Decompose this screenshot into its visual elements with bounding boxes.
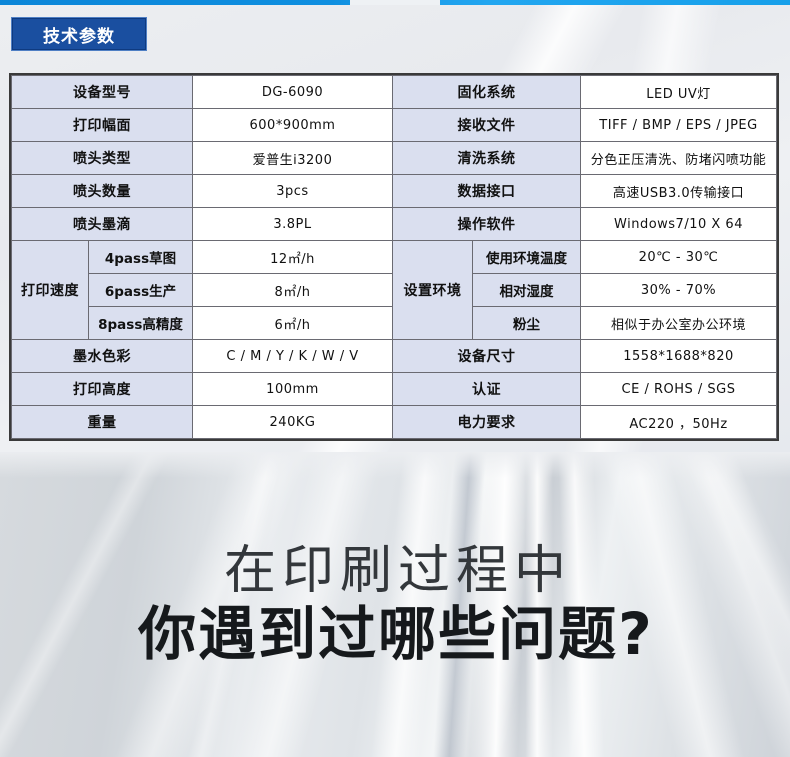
spec-value: 20℃ - 30℃ [581, 241, 777, 274]
spec-key: 打印幅面 [12, 109, 193, 142]
table-row: 重量 240KG 电力要求 AC220 ，50Hz [12, 406, 777, 439]
hero-text-block: 在印刷过程中 你遇到过哪些问题? [0, 452, 790, 757]
table-row: 打印速度 4pass草图 12㎡/h 设置环境 使用环境温度 20℃ - 30℃ [12, 241, 777, 274]
table-row: 喷头数量 3pcs 数据接口 高速USB3.0传输接口 [12, 175, 777, 208]
hero-banner: 在印刷过程中 你遇到过哪些问题? [0, 452, 790, 757]
spec-key: 操作软件 [393, 208, 581, 241]
table-row: 喷头墨滴 3.8PL 操作软件 Windows7/10 X 64 [12, 208, 777, 241]
spec-value: 8㎡/h [193, 274, 393, 307]
spec-value: C / M / Y / K / W / V [193, 340, 393, 373]
spec-value: Windows7/10 X 64 [581, 208, 777, 241]
spec-value: 12㎡/h [193, 241, 393, 274]
spec-key: 电力要求 [393, 406, 581, 439]
spec-value: 30% - 70% [581, 274, 777, 307]
hero-headline-secondary: 你遇到过哪些问题? [136, 604, 654, 665]
spec-value: 100mm [193, 373, 393, 406]
table-row: 打印高度 100mm 认证 CE / ROHS / SGS [12, 373, 777, 406]
spec-subkey: 6pass生产 [89, 274, 193, 307]
spec-key: 设备尺寸 [393, 340, 581, 373]
spec-value: 6㎡/h [193, 307, 393, 340]
section-title-badge: 技术参数 [11, 17, 147, 51]
spec-subkey: 8pass高精度 [89, 307, 193, 340]
spec-value: 爱普生i3200 [193, 142, 393, 175]
spec-subkey: 粉尘 [473, 307, 581, 340]
spec-value: 3.8PL [193, 208, 393, 241]
spec-value: 相似于办公室办公环境 [581, 307, 777, 340]
spec-value: TIFF / BMP / EPS / JPEG [581, 109, 777, 142]
spec-value: 240KG [193, 406, 393, 439]
spec-value: 3pcs [193, 175, 393, 208]
spec-subkey: 4pass草图 [89, 241, 193, 274]
spec-value: LED UV灯 [581, 76, 777, 109]
spec-value: CE / ROHS / SGS [581, 373, 777, 406]
hero-headline-primary: 在印刷过程中 [218, 544, 572, 599]
spec-key: 接收文件 [393, 109, 581, 142]
spec-key: 设备型号 [12, 76, 193, 109]
spec-key: 墨水色彩 [12, 340, 193, 373]
spec-key: 喷头墨滴 [12, 208, 193, 241]
spec-table: 设备型号 DG-6090 固化系统 LED UV灯 打印幅面 600*900mm… [11, 75, 777, 439]
table-row: 墨水色彩 C / M / Y / K / W / V 设备尺寸 1558*168… [12, 340, 777, 373]
spec-section: 技术参数 设备型号 DG-6090 固化系统 LED UV灯 打印幅面 600*… [0, 5, 790, 452]
spec-value: 1558*1688*820 [581, 340, 777, 373]
spec-value: AC220 ，50Hz [581, 406, 777, 439]
table-row: 喷头类型 爱普生i3200 清洗系统 分色正压清洗、防堵闪喷功能 [12, 142, 777, 175]
spec-key: 认证 [393, 373, 581, 406]
spec-key: 数据接口 [393, 175, 581, 208]
spec-subkey: 相对湿度 [473, 274, 581, 307]
spec-key: 固化系统 [393, 76, 581, 109]
spec-key: 喷头数量 [12, 175, 193, 208]
spec-key: 喷头类型 [12, 142, 193, 175]
spec-value: 高速USB3.0传输接口 [581, 175, 777, 208]
table-row: 设备型号 DG-6090 固化系统 LED UV灯 [12, 76, 777, 109]
spec-group-title: 打印速度 [12, 241, 89, 340]
spec-key: 重量 [12, 406, 193, 439]
spec-key: 打印高度 [12, 373, 193, 406]
table-row: 打印幅面 600*900mm 接收文件 TIFF / BMP / EPS / J… [12, 109, 777, 142]
spec-key: 清洗系统 [393, 142, 581, 175]
spec-value: DG-6090 [193, 76, 393, 109]
spec-subkey: 使用环境温度 [473, 241, 581, 274]
spec-value: 600*900mm [193, 109, 393, 142]
spec-group-title: 设置环境 [393, 241, 473, 340]
spec-value: 分色正压清洗、防堵闪喷功能 [581, 142, 777, 175]
